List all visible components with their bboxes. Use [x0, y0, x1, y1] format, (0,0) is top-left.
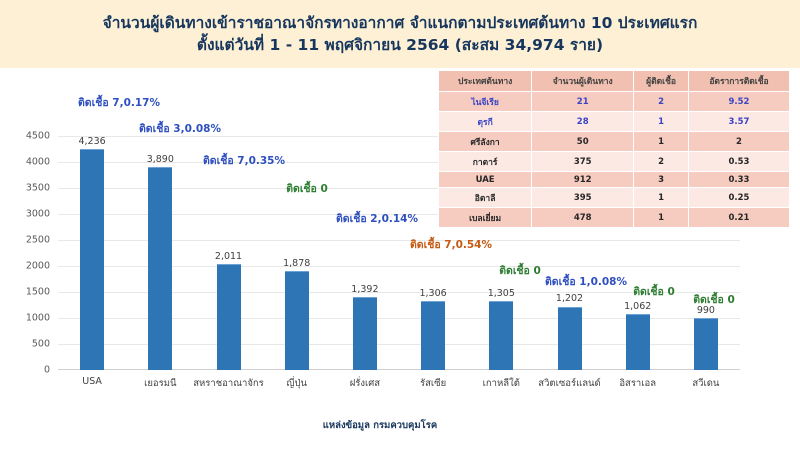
table-cell: อิตาลี — [439, 188, 532, 208]
x-axis-category-label: ญี่ปุ่น — [286, 376, 307, 391]
chart-page: จำนวนผู้เดินทางเข้าราชอาณาจักรทางอากาศ จ… — [0, 0, 800, 450]
table-cell: 1 — [634, 208, 689, 228]
table-cell: 21 — [532, 92, 634, 112]
table-body: ไนจีเรีย2129.52ตุรกี2813.57ศรีลังกา5012ก… — [439, 92, 790, 228]
table-cell: 0.25 — [688, 188, 789, 208]
table-cell: 2 — [634, 152, 689, 172]
y-axis-tick-label: 3000 — [4, 209, 50, 220]
x-axis-category-label: USA — [82, 376, 102, 387]
x-axis-category-label: เกาหลีใต้ — [483, 376, 520, 391]
table-cell: ศรีลังกา — [439, 132, 532, 152]
table-cell: UAE — [439, 172, 532, 188]
y-axis-tick-label: 0 — [4, 365, 50, 376]
table-cell: 0.33 — [688, 172, 789, 188]
bar — [421, 301, 445, 370]
y-axis: 050010001500200025003000350040004500 — [0, 136, 50, 370]
y-axis-tick-label: 3500 — [4, 183, 50, 194]
chart-title-line-1: จำนวนผู้เดินทางเข้าราชอาณาจักรทางอากาศ จ… — [103, 13, 698, 33]
table-row: UAE91230.33 — [439, 172, 790, 188]
bar-value-label: 2,011 — [215, 251, 242, 262]
bar — [558, 307, 582, 371]
table-cell: ตุรกี — [439, 112, 532, 132]
bar-value-label: 4,236 — [78, 136, 105, 147]
infection-annotation: ติดเชื้อ 0 — [499, 262, 541, 279]
bar-value-label: 1,392 — [351, 284, 378, 295]
table-cell: ไนจีเรีย — [439, 92, 532, 112]
table-cell: 50 — [532, 132, 634, 152]
bar — [694, 318, 718, 370]
table-cell: เบลเยี่ยม — [439, 208, 532, 228]
bar — [489, 301, 513, 370]
table-row: ศรีลังกา5012 — [439, 132, 790, 152]
table-cell: 478 — [532, 208, 634, 228]
bar — [80, 149, 104, 370]
infection-annotation: ติดเชื้อ 0 — [286, 180, 328, 197]
x-axis-category-label: รัสเซีย — [420, 376, 446, 391]
bar — [626, 314, 650, 370]
table-cell: 1 — [634, 112, 689, 132]
title-band: จำนวนผู้เดินทางเข้าราชอาณาจักรทางอากาศ จ… — [0, 0, 800, 68]
bar — [285, 271, 309, 370]
table-cell: 2 — [688, 132, 789, 152]
table-header-row: ประเทศต้นทางจำนวนผู้เดินทางผู้ติดเชื้ออั… — [439, 71, 790, 92]
y-axis-tick-label: 4000 — [4, 157, 50, 168]
x-axis-category-label: ฝรั่งเศส — [350, 376, 380, 391]
table-row: เบลเยี่ยม47810.21 — [439, 208, 790, 228]
infection-annotation: ติดเชื้อ 3,0.08% — [139, 120, 221, 137]
bar — [353, 297, 377, 370]
x-axis-category-label: สหราชอาณาจักร — [193, 376, 264, 391]
infection-rate-table: ประเทศต้นทางจำนวนผู้เดินทางผู้ติดเชื้ออั… — [438, 70, 790, 228]
table-column-header: ผู้ติดเชื้อ — [634, 71, 689, 92]
table-column-header: ประเทศต้นทาง — [439, 71, 532, 92]
table-row: กาตาร์37520.53 — [439, 152, 790, 172]
table-cell: 3 — [634, 172, 689, 188]
table-cell: 1 — [634, 188, 689, 208]
bar-value-label: 1,878 — [283, 258, 310, 269]
table-cell: 1 — [634, 132, 689, 152]
table-cell: 3.57 — [688, 112, 789, 132]
chart-title-line-2: ตั้งแต่วันที่ 1 - 11 พฤศจิกายน 2564 (สะส… — [197, 35, 603, 55]
table-cell: 9.52 — [688, 92, 789, 112]
infection-annotation: ติดเชื้อ 1,0.08% — [545, 273, 627, 290]
infection-annotation: ติดเชื้อ 2,0.14% — [336, 210, 418, 227]
bar-value-label: 1,202 — [556, 293, 583, 304]
table-cell: 395 — [532, 188, 634, 208]
y-axis-tick-label: 4500 — [4, 131, 50, 142]
table-cell: 912 — [532, 172, 634, 188]
table-row: ไนจีเรีย2129.52 — [439, 92, 790, 112]
x-axis-category-label: สวิตเซอร์แลนด์ — [538, 376, 600, 391]
table-cell: กาตาร์ — [439, 152, 532, 172]
source-note: แหล่งข้อมูล กรมควบคุมโรค — [0, 418, 800, 433]
y-axis-tick-label: 2500 — [4, 235, 50, 246]
table-cell: 28 — [532, 112, 634, 132]
x-axis-category-label: เยอรมนี — [144, 376, 176, 391]
bar-value-label: 1,306 — [419, 288, 446, 299]
bar — [217, 264, 241, 370]
bar — [148, 167, 172, 370]
bar-value-label: 1,305 — [488, 288, 515, 299]
infection-annotation: ติดเชื้อ 7,0.35% — [203, 152, 285, 169]
infection-annotation: ติดเชื้อ 0 — [633, 283, 675, 300]
bar-value-label: 1,062 — [624, 301, 651, 312]
x-axis-category-label: สวีเดน — [692, 376, 719, 391]
table-column-header: อัตราการติดเชื้อ — [688, 71, 789, 92]
y-axis-tick-label: 1500 — [4, 287, 50, 298]
infection-annotation: ติดเชื้อ 0 — [693, 291, 735, 308]
x-axis-category-label: อิสราเอล — [619, 376, 656, 391]
table-cell: 375 — [532, 152, 634, 172]
table-cell: 2 — [634, 92, 689, 112]
table-cell: 0.21 — [688, 208, 789, 228]
table-row: ตุรกี2813.57 — [439, 112, 790, 132]
table-column-header: จำนวนผู้เดินทาง — [532, 71, 634, 92]
y-axis-tick-label: 2000 — [4, 261, 50, 272]
bar-value-label: 3,890 — [147, 154, 174, 165]
table-cell: 0.53 — [688, 152, 789, 172]
y-axis-tick-label: 1000 — [4, 313, 50, 324]
infection-annotation: ติดเชื้อ 7,0.54% — [410, 236, 492, 253]
y-axis-tick-label: 500 — [4, 339, 50, 350]
table-row: อิตาลี39510.25 — [439, 188, 790, 208]
infection-annotation: ติดเชื้อ 7,0.17% — [78, 94, 160, 111]
